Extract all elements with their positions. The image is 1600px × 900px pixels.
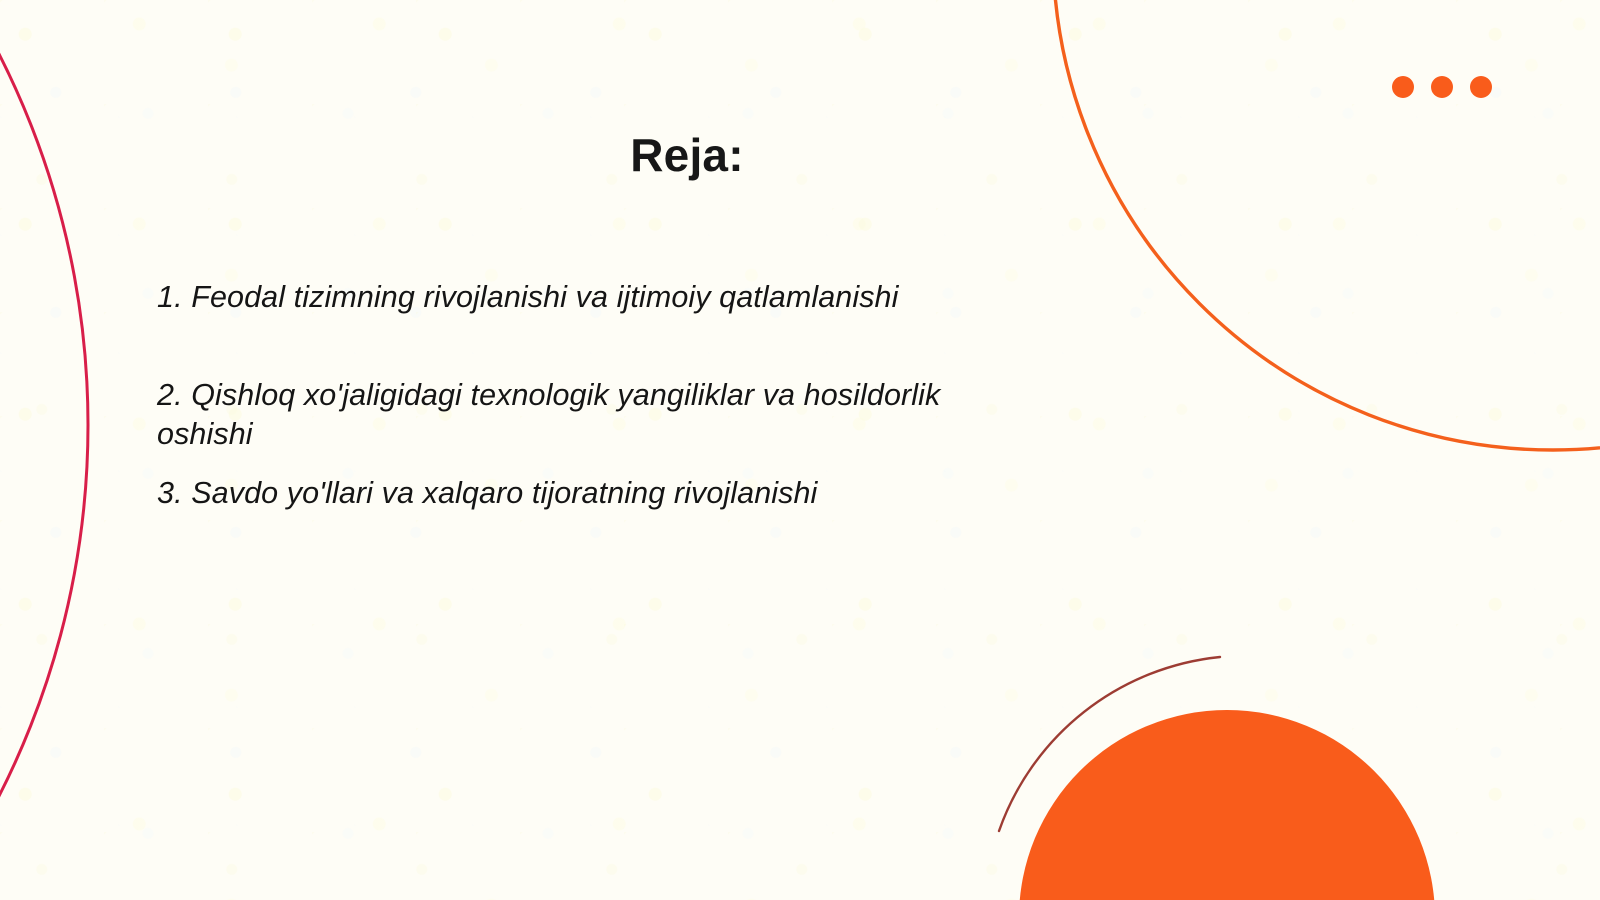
list-item: 2. Qishloq xo'jaligidagi texnologik yang… (157, 376, 1037, 453)
list-item: 3. Savdo yo'llari va xalqaro tijoratning… (157, 474, 1037, 512)
agenda-list: 1. Feodal tizimning rivojlanishi va ijti… (157, 278, 1037, 513)
list-item: 1. Feodal tizimning rivojlanishi va ijti… (157, 278, 1037, 316)
slide-title: Reja: (0, 131, 1374, 179)
slide-canvas: Reja: 1. Feodal tizimning rivojlanishi v… (0, 0, 1600, 900)
slide-content: Reja: 1. Feodal tizimning rivojlanishi v… (0, 0, 1600, 900)
